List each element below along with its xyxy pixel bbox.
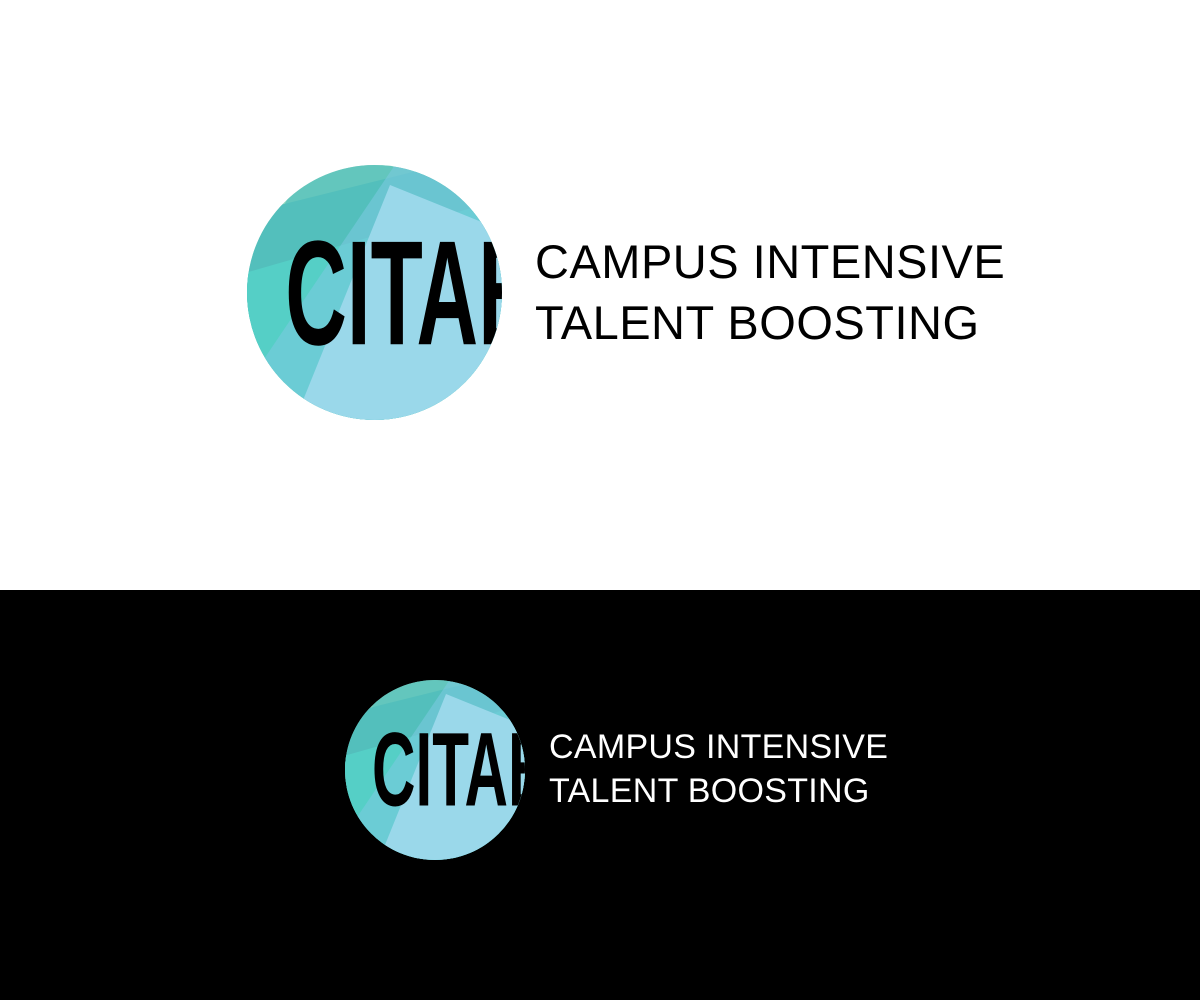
wordmark-citab-inverse: CITAB: [372, 718, 498, 823]
tagline-line-2-inverse: TALENT BOOSTING: [549, 770, 888, 814]
logo-lockup-primary[interactable]: CITAB CAMPUS INTENSIVE TALENT BOOSTING: [247, 165, 1005, 420]
circle-badge-inverse: CITAB: [345, 680, 525, 860]
logo-lockup-inverse[interactable]: CITAB CAMPUS INTENSIVE TALENT BOOSTING: [345, 680, 888, 860]
tagline-line-2-primary: TALENT BOOSTING: [535, 293, 1005, 353]
tagline-inverse: CAMPUS INTENSIVE TALENT BOOSTING: [549, 726, 888, 813]
wordmark-citab-primary: CITAB: [285, 218, 464, 367]
tagline-primary: CAMPUS INTENSIVE TALENT BOOSTING: [535, 232, 1005, 352]
circle-badge-primary: CITAB: [247, 165, 502, 420]
logo-presentation-board: CITAB CAMPUS INTENSIVE TALENT BOOSTING C…: [0, 0, 1200, 1000]
tagline-line-1-primary: CAMPUS INTENSIVE: [535, 232, 1005, 292]
tagline-line-1-inverse: CAMPUS INTENSIVE: [549, 726, 888, 770]
